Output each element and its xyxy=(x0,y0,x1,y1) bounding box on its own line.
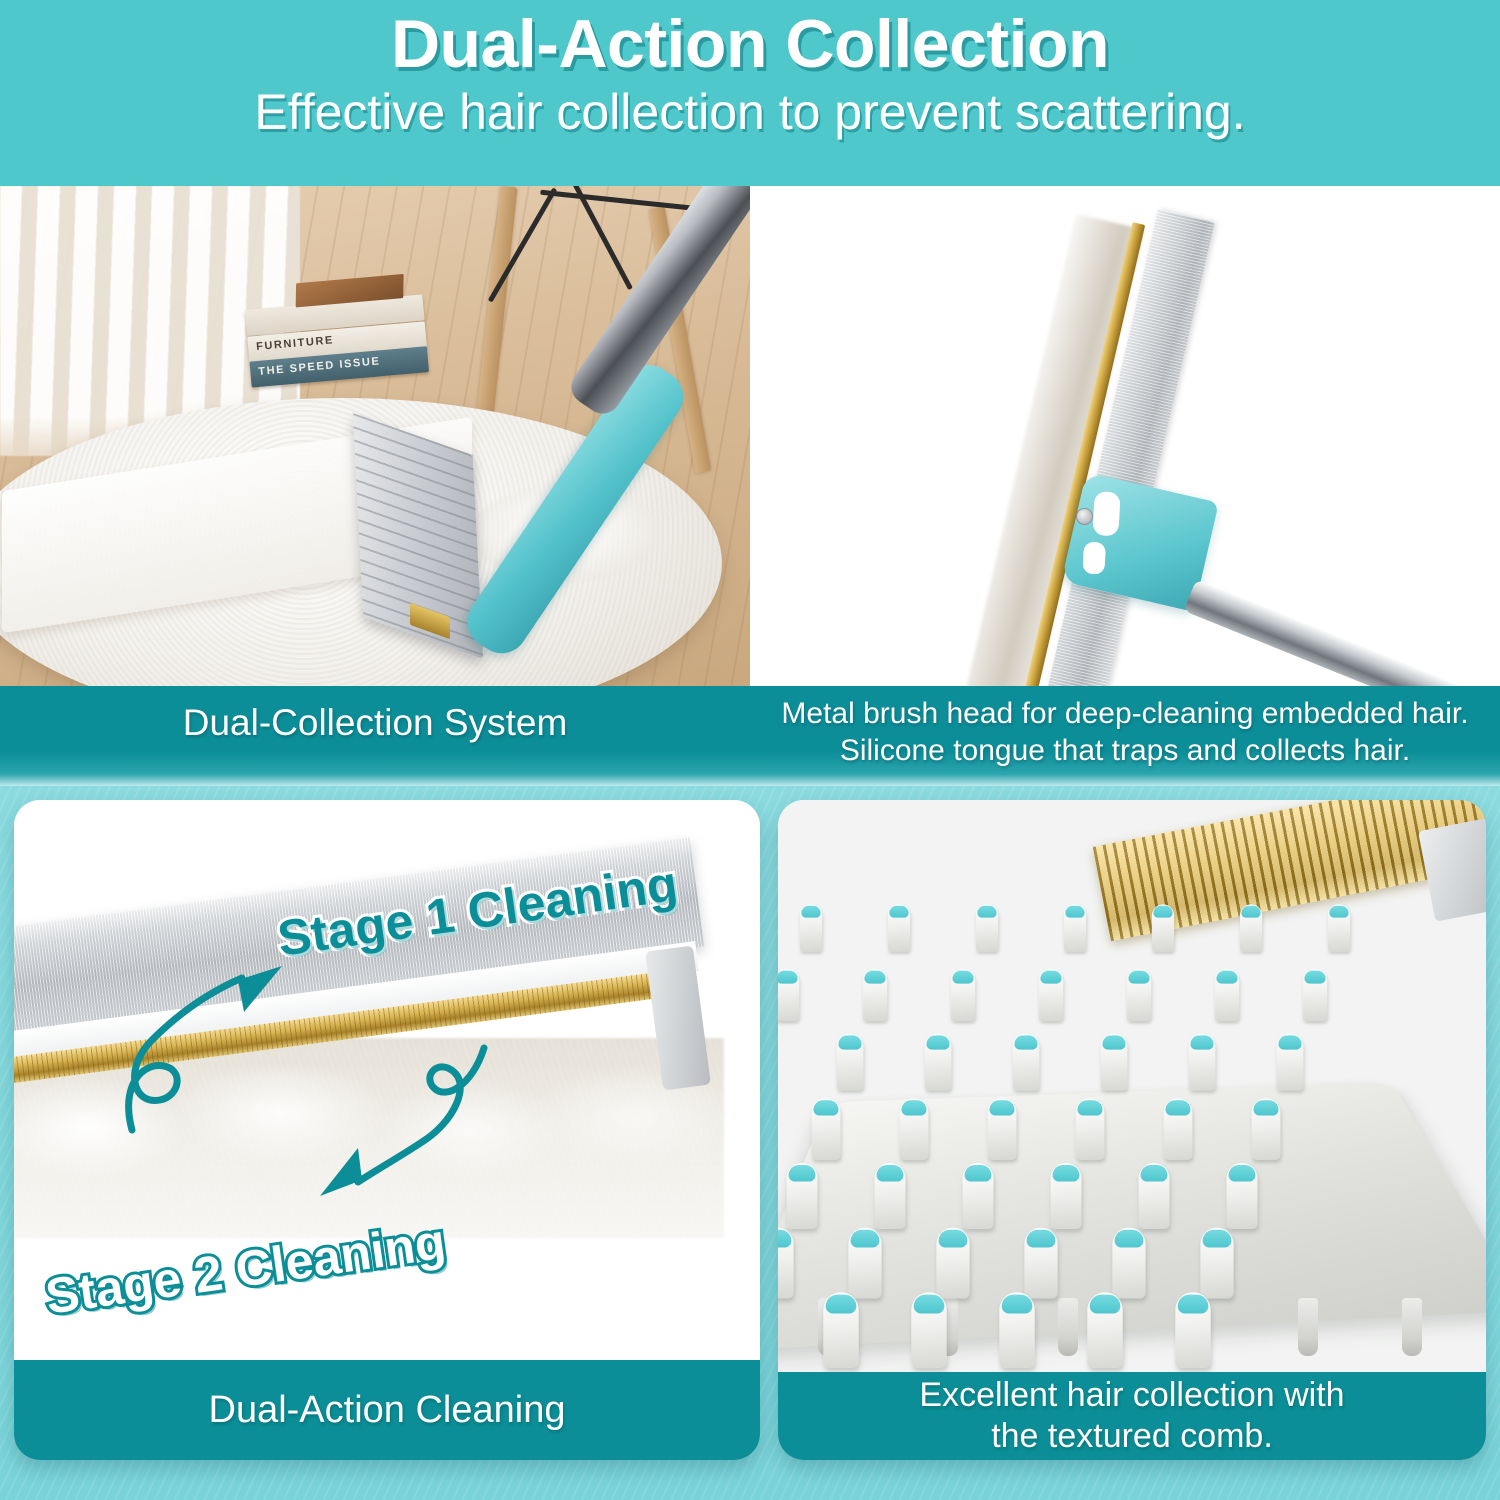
caption-line-1: Excellent hair collection with xyxy=(919,1375,1344,1416)
silicone-pin xyxy=(900,1098,929,1159)
silicone-pin xyxy=(911,1292,946,1368)
silicone-pin xyxy=(1113,1228,1146,1299)
page-title: Dual-Action Collection xyxy=(391,8,1109,81)
arrow-head-stage2 xyxy=(320,1148,362,1196)
silicone-pin xyxy=(862,969,886,1021)
silicone-pin xyxy=(837,1034,864,1091)
silicone-pin xyxy=(1214,969,1238,1021)
silicone-pin xyxy=(1064,904,1086,951)
comb-underside-leg xyxy=(1058,1298,1078,1356)
header-banner: Dual-Action Collection Effective hair co… xyxy=(0,0,1500,186)
silicone-pin xyxy=(1138,1163,1169,1229)
silicone-pin xyxy=(962,1163,993,1229)
comb-underside-leg xyxy=(1402,1298,1422,1356)
silicone-pin xyxy=(778,969,799,1021)
top-photo-row: FURNITURE THE SPEED ISSUE xyxy=(0,186,1500,686)
silicone-pin xyxy=(874,1163,905,1229)
silicone-pin xyxy=(1164,1098,1193,1159)
silicone-pin xyxy=(925,1034,952,1091)
comb-underside-leg xyxy=(1298,1298,1318,1356)
silicone-pin xyxy=(812,1098,841,1159)
arrow-path-stage2 xyxy=(358,1048,484,1182)
silicone-pin xyxy=(999,1292,1034,1368)
silicone-pin xyxy=(1152,904,1174,951)
silicone-pin xyxy=(1328,904,1350,951)
book-title-furniture: FURNITURE xyxy=(256,334,335,353)
silicone-pin xyxy=(1277,1034,1304,1091)
silicone-pin xyxy=(1226,1163,1257,1229)
book-stack: FURNITURE THE SPEED ISSUE xyxy=(245,294,429,387)
pivot-screw xyxy=(1076,508,1093,525)
silicone-pin xyxy=(1013,1034,1040,1091)
silicone-pin xyxy=(778,1228,794,1299)
silicone-pin xyxy=(888,904,910,951)
silicone-pin xyxy=(1240,904,1262,951)
silicone-pin xyxy=(1038,969,1062,1021)
photo-metal-brush-head xyxy=(750,186,1500,686)
metal-end-bracket xyxy=(1418,814,1486,921)
caption-line-1: Metal brush head for deep-cleaning embed… xyxy=(750,696,1500,733)
infographic-page: Dual-Action Collection Effective hair co… xyxy=(0,0,1500,1500)
silicone-pin xyxy=(823,1292,858,1368)
silicone-pin xyxy=(1302,969,1326,1021)
silicone-pin xyxy=(849,1228,882,1299)
photo-silicone-comb xyxy=(778,800,1486,1372)
arrow-head-stage1 xyxy=(238,966,282,1012)
card-textured-comb: Excellent hair collection with the textu… xyxy=(778,800,1486,1460)
caption-textured-comb: Excellent hair collection with the textu… xyxy=(778,1372,1486,1460)
silicone-pin xyxy=(1087,1292,1122,1368)
silicone-pin xyxy=(1025,1228,1058,1299)
book-title-speed-issue: THE SPEED ISSUE xyxy=(258,355,381,378)
silicone-pin xyxy=(1076,1098,1105,1159)
caption-line-2: the textured comb. xyxy=(919,1416,1344,1457)
caption-line-2: Silicone tongue that traps and collects … xyxy=(750,733,1500,770)
silicone-pin xyxy=(950,969,974,1021)
silicone-pin xyxy=(1175,1292,1210,1368)
caption-dual-collection-system: Dual-Collection System xyxy=(0,686,750,744)
mid-caption-band: Dual-Collection System Metal brush head … xyxy=(0,686,1500,786)
silicone-pin xyxy=(1101,1034,1128,1091)
silicone-pin xyxy=(1189,1034,1216,1091)
silicone-pin xyxy=(786,1163,817,1229)
silicone-pin xyxy=(1252,1098,1281,1159)
photo-dual-action-cleaning: Stage 1 Cleaning Stage 2 Cleaning xyxy=(14,800,760,1360)
card-dual-action-cleaning: Stage 1 Cleaning Stage 2 Cleaning Dual-A… xyxy=(14,800,760,1460)
arrow-path-stage1 xyxy=(129,978,242,1130)
silicone-pin xyxy=(1201,1228,1234,1299)
caption-metal-brush-head: Metal brush head for deep-cleaning embed… xyxy=(750,686,1500,769)
silicone-pin xyxy=(976,904,998,951)
photo-dual-collection-system: FURNITURE THE SPEED ISSUE xyxy=(0,186,750,686)
silicone-pin xyxy=(800,904,822,951)
caption-dual-action-cleaning: Dual-Action Cleaning xyxy=(14,1360,760,1460)
silicone-pin xyxy=(1126,969,1150,1021)
silicone-pin xyxy=(988,1098,1017,1159)
page-subtitle: Effective hair collection to prevent sca… xyxy=(254,85,1245,140)
silicone-pin xyxy=(937,1228,970,1299)
silicone-pin xyxy=(1050,1163,1081,1229)
